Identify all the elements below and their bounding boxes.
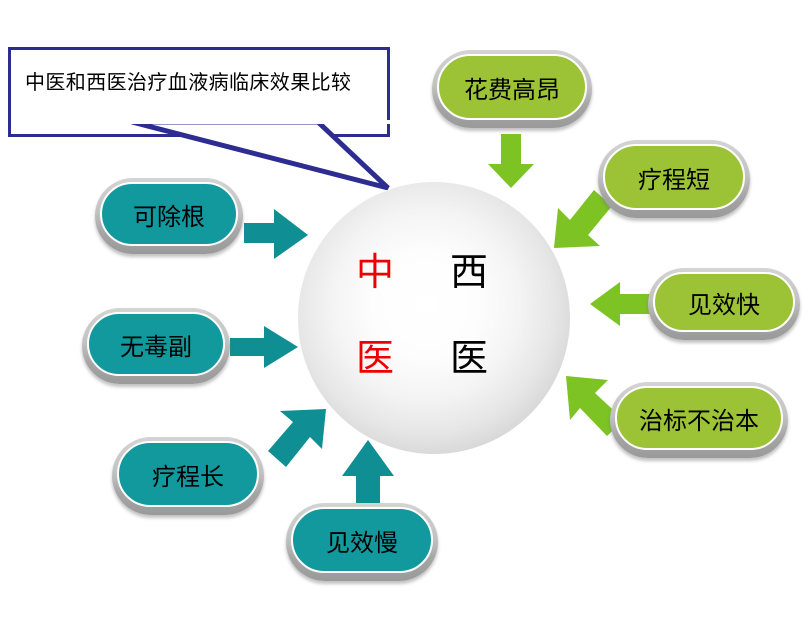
node-label: 可除根 (133, 197, 205, 232)
node-tcm-jianxiaoman[interactable]: 见效慢 (286, 503, 438, 581)
arrow-left-icon (588, 280, 654, 328)
center-sphere-labels: 中 西 医 医 (298, 182, 570, 454)
node-wm-jianxiaokuai[interactable]: 见效快 (648, 268, 800, 340)
center-label-tcm-char2: 医 (356, 340, 394, 378)
node-label: 治标不治本 (639, 401, 759, 436)
center-label-wm-char1: 西 (450, 254, 488, 292)
node-label: 见效快 (688, 285, 760, 320)
node-label: 无毒副 (120, 327, 192, 362)
node-wm-huafeigaoang[interactable]: 花费高昂 (432, 50, 592, 128)
diagram-canvas: 中医和西医治疗血液病临床效果比较 中 西 医 医 可除根 无毒副 疗程长 (0, 0, 809, 622)
arrow-right-icon (228, 324, 300, 370)
node-tcm-wudufu[interactable]: 无毒副 (82, 308, 230, 384)
node-tcm-liaochengchang[interactable]: 疗程长 (112, 437, 264, 515)
node-wm-liaochengduan[interactable]: 疗程短 (598, 140, 750, 218)
node-wm-zhibiaobuzhiben[interactable]: 治标不治本 (610, 382, 788, 458)
page-title: 中医和西医治疗血液病临床效果比较 (25, 66, 351, 95)
node-label: 疗程短 (638, 160, 710, 195)
callout-tail-icon (130, 120, 390, 190)
arrow-right-icon (240, 205, 312, 263)
arrow-down-icon (486, 132, 536, 190)
arrow-up-right-icon (260, 405, 330, 477)
center-label-tcm-char1: 中 (356, 254, 394, 292)
center-label-wm-char2: 医 (450, 340, 488, 378)
node-label: 疗程长 (152, 457, 224, 492)
node-label: 花费高昂 (464, 70, 560, 105)
node-label: 见效慢 (326, 523, 398, 558)
